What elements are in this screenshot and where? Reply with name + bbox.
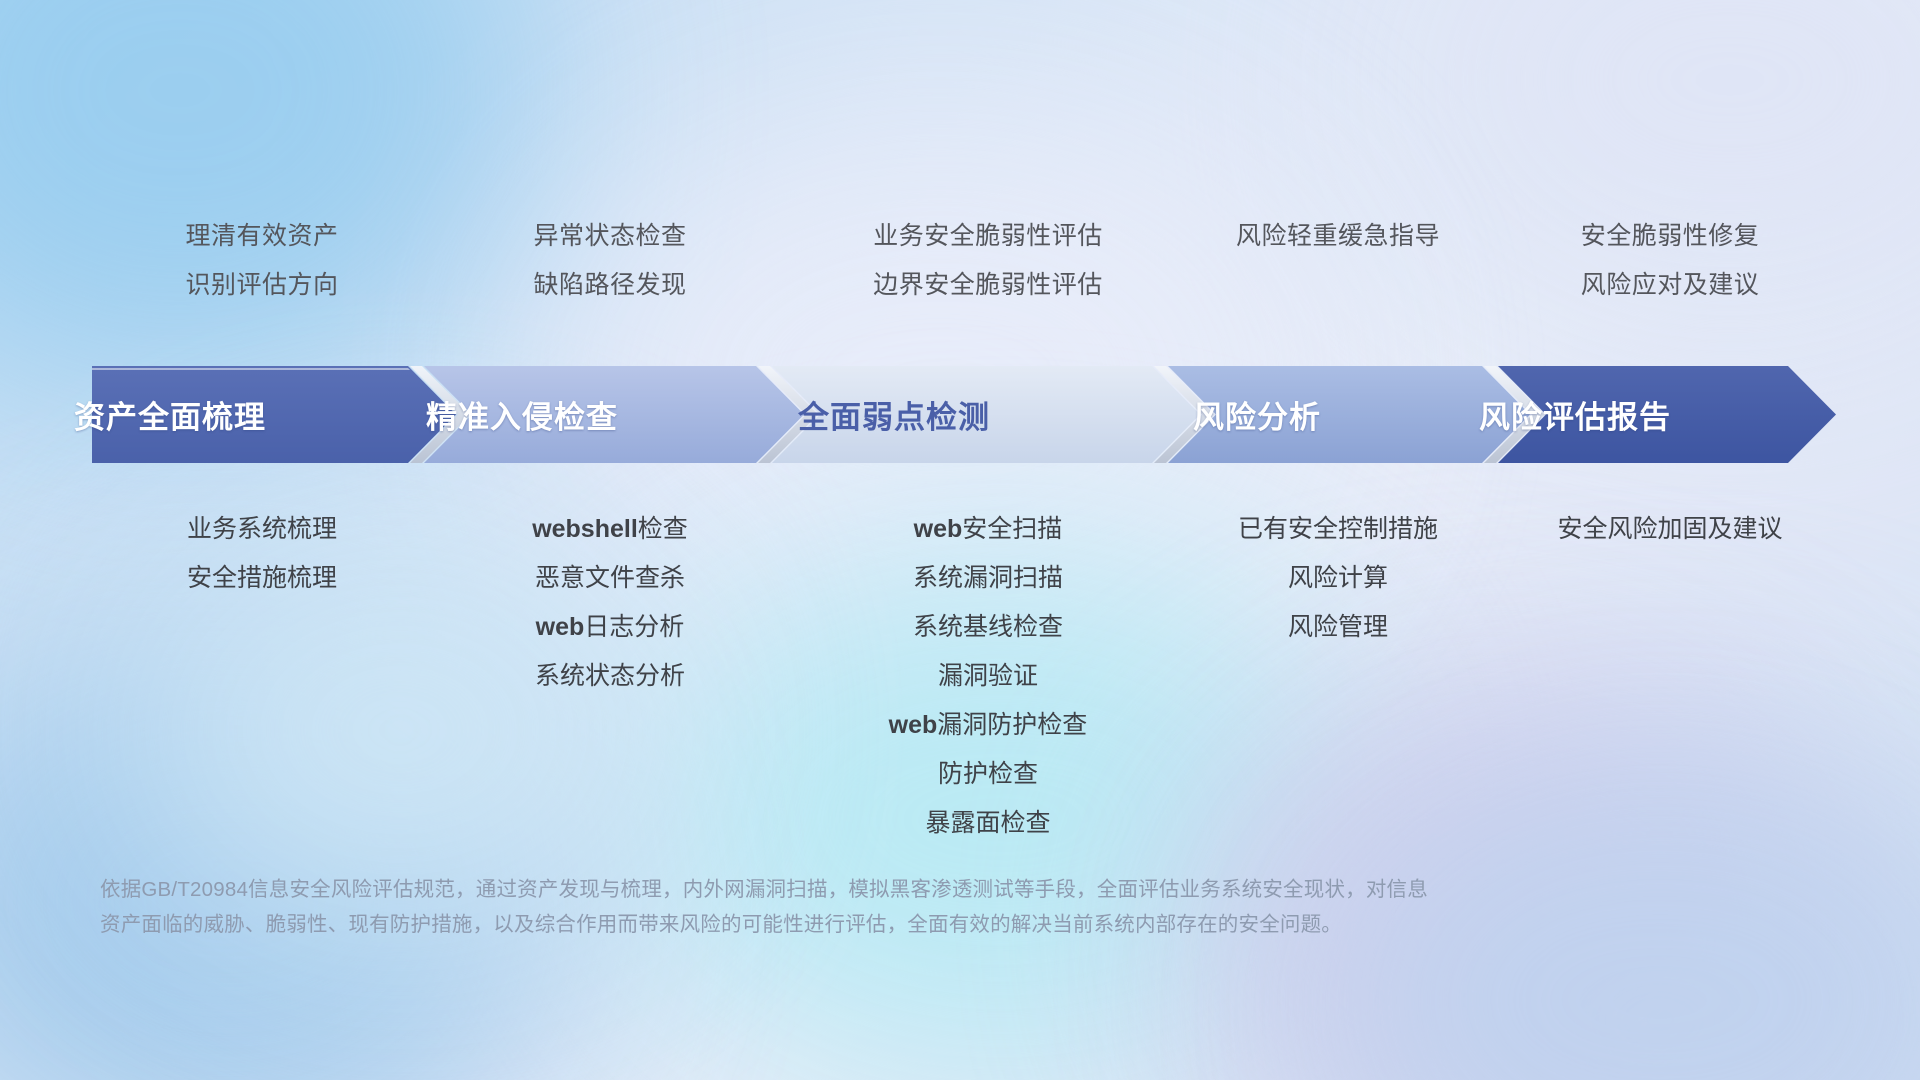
bottom-caption-column-2: webshell检查恶意文件查杀web日志分析系统状态分析	[440, 505, 780, 701]
footer-description: 依据GB/T20984信息安全风险评估规范，通过资产发现与梳理，内外网漏洞扫描，…	[100, 872, 1730, 942]
bottom-caption-column-4: 已有安全控制措施风险计算风险管理	[1188, 505, 1488, 652]
bottom-caption-item: 暴露面检查	[788, 799, 1188, 848]
bottom-caption-item: 风险管理	[1188, 603, 1488, 652]
bottom-caption-item-rest: 日志分析	[584, 613, 684, 641]
bottom-caption-item: 业务系统梳理	[92, 505, 432, 554]
bottom-caption-item-prefix: web	[914, 515, 963, 543]
arrow-segment-1	[92, 366, 456, 463]
bottom-caption-column-1: 业务系统梳理安全措施梳理	[92, 505, 432, 603]
bottom-caption-column-5: 安全风险加固及建议	[1496, 505, 1844, 554]
bottom-caption-item: 安全措施梳理	[92, 554, 432, 603]
top-caption-cell-4: 风险轻重缓急指导	[1188, 212, 1488, 261]
arrow-segment-group	[92, 366, 1836, 463]
bottom-caption-item: 系统状态分析	[440, 652, 780, 701]
bottom-caption-item: web安全扫描	[788, 505, 1188, 554]
bottom-caption-item-rest: 安全扫描	[962, 515, 1062, 543]
bottom-caption-item: 系统漏洞扫描	[788, 554, 1188, 603]
top-caption-line: 缺陷路径发现	[440, 261, 780, 310]
top-caption-cell-2: 异常状态检查缺陷路径发现	[440, 212, 780, 310]
top-caption-line: 业务安全脆弱性评估	[788, 212, 1188, 261]
arrow-highlight-group	[92, 368, 410, 370]
bottom-caption-item: web漏洞防护检查	[788, 701, 1188, 750]
bottom-caption-item: 防护检查	[788, 750, 1188, 799]
bottom-caption-item-rest: 检查	[638, 515, 688, 543]
arrow-segment-2	[424, 366, 804, 463]
diagram-root: 理清有效资产识别评估方向异常状态检查缺陷路径发现业务安全脆弱性评估边界安全脆弱性…	[0, 0, 1920, 1080]
top-caption-line: 安全脆弱性修复	[1496, 212, 1844, 261]
bottom-caption-column-3: web安全扫描系统漏洞扫描系统基线检查漏洞验证web漏洞防护检查防护检查暴露面检…	[788, 505, 1188, 848]
footer-line-1: 依据GB/T20984信息安全风险评估规范，通过资产发现与梳理，内外网漏洞扫描，…	[100, 872, 1730, 907]
arrow-top-highlight	[92, 368, 410, 370]
process-arrow-band: 资产全面梳理精准入侵检查全面弱点检测风险分析风险评估报告	[92, 366, 1836, 463]
top-caption-line: 识别评估方向	[92, 261, 432, 310]
bottom-caption-item: webshell检查	[440, 505, 780, 554]
bottom-caption-item: 系统基线检查	[788, 603, 1188, 652]
bottom-caption-item: 漏洞验证	[788, 652, 1188, 701]
bottom-caption-item-rest: 漏洞防护检查	[937, 711, 1087, 739]
top-caption-line: 异常状态检查	[440, 212, 780, 261]
top-caption-row: 理清有效资产识别评估方向异常状态检查缺陷路径发现业务安全脆弱性评估边界安全脆弱性…	[0, 212, 1920, 322]
bottom-caption-item: 恶意文件查杀	[440, 554, 780, 603]
footer-line-2: 资产面临的威胁、脆弱性、现有防护措施，以及综合作用而带来风险的可能性进行评估，全…	[100, 907, 1730, 942]
top-caption-line: 风险应对及建议	[1496, 261, 1844, 310]
bottom-caption-item: web日志分析	[440, 603, 780, 652]
top-caption-line: 风险轻重缓急指导	[1188, 212, 1488, 261]
bottom-caption-item-prefix: webshell	[532, 515, 638, 543]
top-caption-line: 理清有效资产	[92, 212, 432, 261]
bottom-caption-item: 安全风险加固及建议	[1496, 505, 1844, 554]
top-caption-cell-3: 业务安全脆弱性评估边界安全脆弱性评估	[788, 212, 1188, 310]
top-caption-cell-1: 理清有效资产识别评估方向	[92, 212, 432, 310]
bottom-caption-item: 已有安全控制措施	[1188, 505, 1488, 554]
bottom-caption-item: 风险计算	[1188, 554, 1488, 603]
arrow-segment-4	[1168, 366, 1530, 463]
arrow-segment-3	[772, 366, 1200, 463]
bottom-caption-item-prefix: web	[536, 613, 585, 641]
bottom-caption-item-prefix: web	[889, 711, 938, 739]
arrow-segment-5	[1498, 366, 1836, 463]
top-caption-line: 边界安全脆弱性评估	[788, 261, 1188, 310]
arrow-shapes	[92, 366, 1836, 463]
top-caption-cell-5: 安全脆弱性修复风险应对及建议	[1496, 212, 1844, 310]
